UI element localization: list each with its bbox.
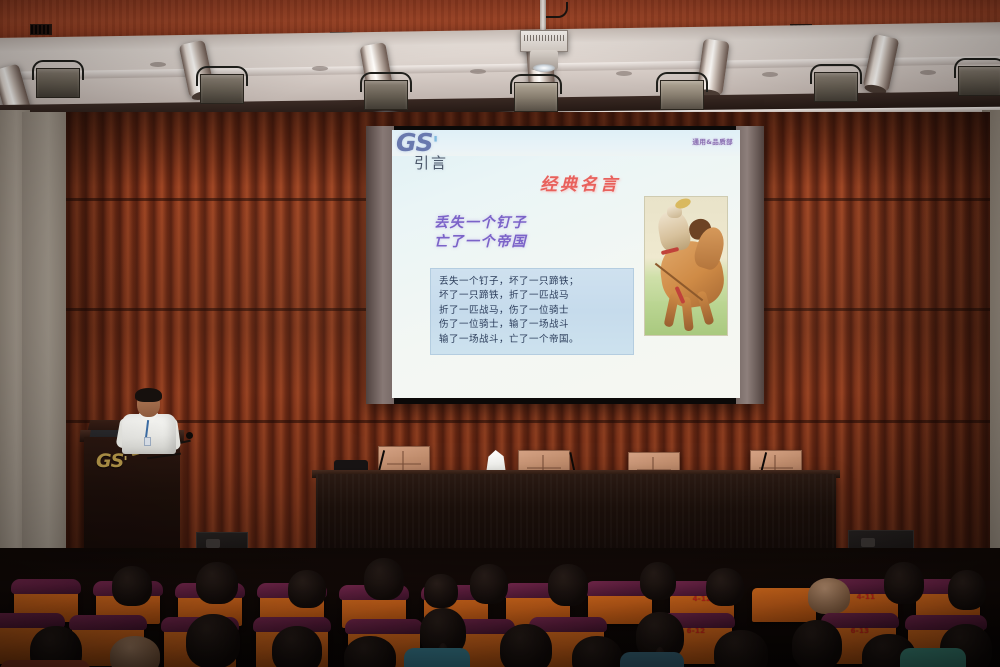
stage-spotlight [510,74,562,114]
audience-clothing [0,660,90,667]
screen-border-right [736,126,764,404]
projector-lens [530,50,558,70]
department-label: 通用&品质部 [692,136,733,146]
quote-line: 丢失一个钉子，坏了一只蹄铁； [439,275,625,289]
podium-microphone-head [186,432,193,439]
stage-spotlight [954,58,1000,98]
quote-line: 伤了一位骑士，输了一场战斗 [439,318,625,332]
audience-head [186,614,240,667]
audience-head [548,564,588,606]
audience-head [714,630,768,667]
audience-head [424,574,458,608]
screen-border-left [366,126,394,404]
audience-head [364,558,404,600]
seat-number: 6-13 [851,627,870,635]
audience-clothing [620,652,684,667]
presenter [120,390,178,452]
podium-gs-text: GS [96,450,123,472]
audience-head [288,570,326,608]
stage-spotlight [656,72,708,112]
audience-head [884,562,924,604]
seat-number: 4-11 [857,593,876,601]
audience-head [470,564,508,604]
presentation-slide: GS' 通用&品质部 引言 经典名言 丢失一个钉子 亡了一个帝国 丢失一个钉子，… [392,130,740,398]
stage-spotlight [32,60,84,100]
ceiling-vent [30,24,52,35]
slide-subtitle-line: 丢失一个钉子 [434,214,527,233]
audience-head [640,562,676,600]
audience-area: 4-12 4-11 6-12 6-13 [0,548,1000,667]
soffit-dimple [616,71,632,76]
audience-clothing [900,648,966,667]
stage-spotlight [360,72,412,112]
stage-spotlight [196,66,248,106]
audience-head [272,626,322,667]
quote-line: 坏了一只蹄铁，折了一匹战马 [439,289,625,303]
projector-body [520,30,568,52]
slide-headline: 经典名言 [540,170,620,195]
soffit-dimple [312,66,328,71]
quote-line: 折了一匹战马，伤了一位骑士 [439,304,625,318]
slide-subtitle-line: 亡了一个帝国 [434,233,527,252]
slide-subtitle: 丢失一个钉子 亡了一个帝国 [434,214,527,252]
plaster-column-left [22,112,66,580]
audience-head [572,636,622,667]
audience-head [112,566,152,606]
soffit-dimple [150,62,166,67]
auditorium-photo: GS' 通用&品质部 引言 经典名言 丢失一个钉子 亡了一个帝国 丢失一个钉子，… [0,0,1000,667]
audience-head [110,636,160,667]
projection-screen: GS' 通用&品质部 引言 经典名言 丢失一个钉子 亡了一个帝国 丢失一个钉子，… [392,130,740,398]
seat-number: 6-12 [687,627,706,635]
soffit-dimple [920,70,936,75]
audience-head [808,578,850,614]
audience-clothing [404,648,470,667]
audience-seat [752,588,816,622]
slide-section-title: 引言 [414,152,448,173]
soffit-dimple [762,72,778,77]
knight-on-horseback-image [644,196,728,336]
audience-head [948,570,986,610]
presenter-badge [144,437,151,446]
audience-head [792,620,842,667]
podium-gs-accent: ' [123,453,127,471]
audience-head [196,562,238,604]
soffit-dimple [470,69,486,74]
quote-line: 输了一场战斗，亡了一个帝国。 [439,333,625,347]
audience-head [500,624,552,667]
audience-head [706,568,744,606]
slide-quote-box: 丢失一个钉子，坏了一只蹄铁； 坏了一只蹄铁，折了一匹战马 折了一匹战马，伤了一位… [430,268,634,355]
stage-spotlight [810,64,862,104]
